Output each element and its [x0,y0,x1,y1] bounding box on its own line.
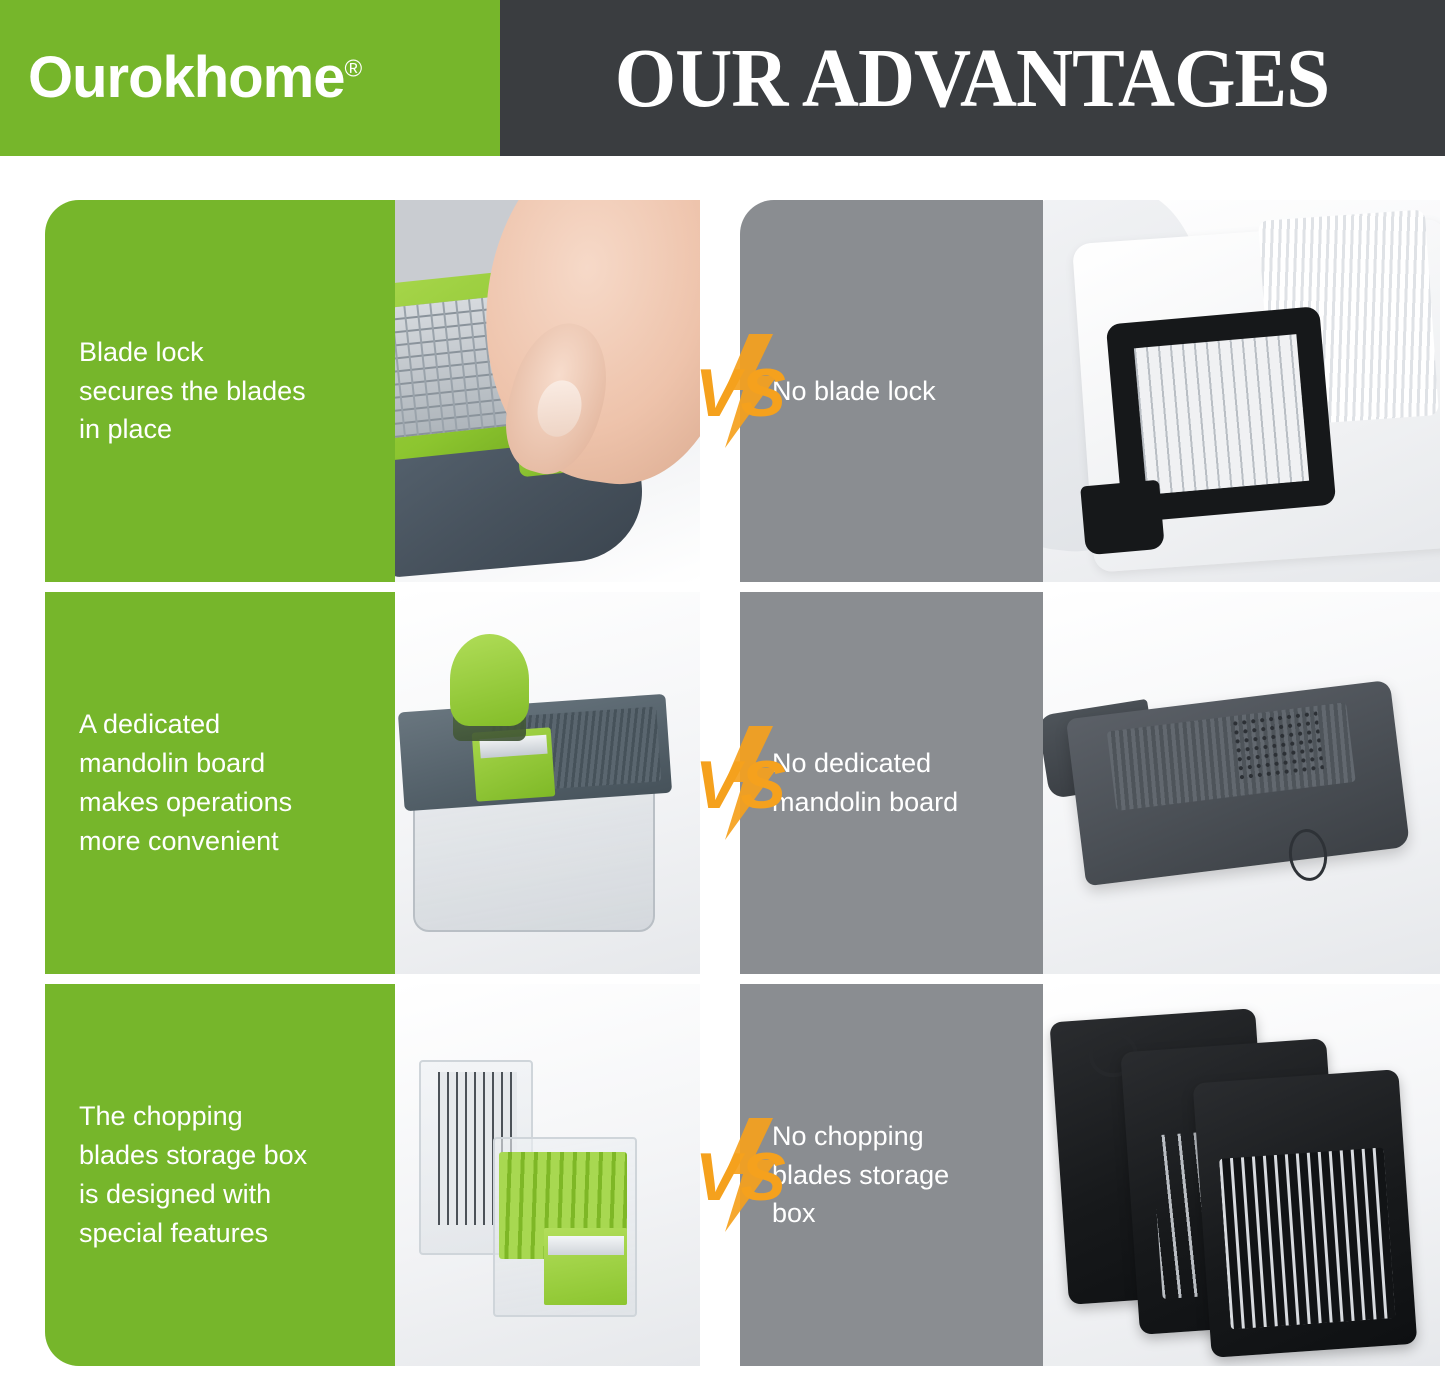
pro-cell: Blade lock secures the blades in place [45,200,700,582]
comparison-grid: Blade lock secures the blades in place V… [0,156,1445,1379]
pro-photo [395,592,700,974]
pro-caption: A dedicated mandolin board makes operati… [45,705,318,861]
con-caption-panel: No dedicated mandolin board [740,592,1043,974]
con-caption-panel: No blade lock [740,200,1043,582]
pro-caption-panel: Blade lock secures the blades in place [45,200,395,582]
pro-caption: Blade lock secures the blades in place [45,333,332,450]
pro-cell: A dedicated mandolin board makes operati… [45,592,700,974]
pro-caption: The chopping blades storage box is desig… [45,1097,333,1253]
pro-cell: The chopping blades storage box is desig… [45,984,700,1366]
brand-logo-block: Ourokhome® [0,0,500,156]
header-bar: Ourokhome® OUR ADVANTAGES [0,0,1445,156]
con-caption: No chopping blades storage box [740,1117,975,1234]
registered-trademark-icon: ® [345,56,362,83]
con-caption-panel: No chopping blades storage box [740,984,1043,1366]
comparison-row: Blade lock secures the blades in place V… [45,200,1445,582]
brand-name: Ourokhome® [28,49,361,107]
pro-photo [395,984,700,1366]
comparison-row: A dedicated mandolin board makes operati… [45,592,1445,974]
con-photo [1043,984,1440,1366]
con-photo [1043,200,1440,582]
con-cell: No dedicated mandolin board [740,592,1440,974]
page-title: OUR ADVANTAGES [500,0,1445,156]
con-cell: No chopping blades storage box [740,984,1440,1366]
pro-caption-panel: The chopping blades storage box is desig… [45,984,395,1366]
brand-name-text: Ourokhome [28,45,345,110]
pro-photo [395,200,700,582]
con-cell: No blade lock [740,200,1440,582]
comparison-row: The chopping blades storage box is desig… [45,984,1445,1366]
con-caption: No blade lock [740,372,962,411]
page-title-text: OUR ADVANTAGES [615,30,1329,127]
pro-caption-panel: A dedicated mandolin board makes operati… [45,592,395,974]
con-caption: No dedicated mandolin board [740,744,984,822]
con-photo [1043,592,1440,974]
